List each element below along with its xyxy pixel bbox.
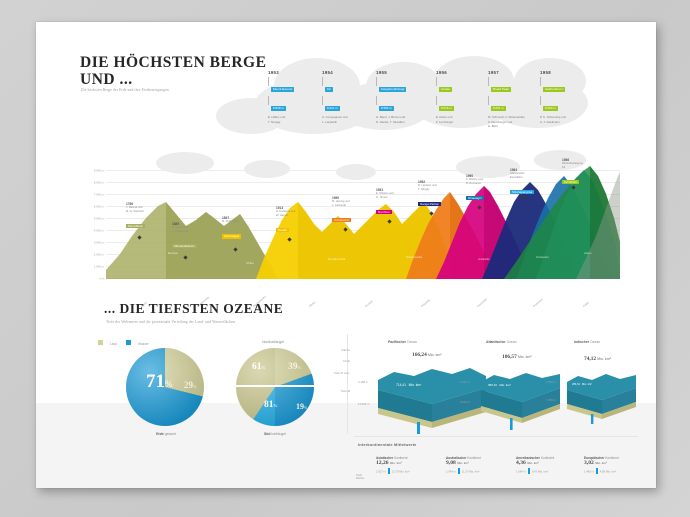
pie-caption-earth: Erde gesamt (136, 432, 196, 436)
tag-row: Broad Peak (488, 77, 540, 95)
climber-names: K. Bishop und B. Romanes (466, 178, 510, 186)
ocean-volume-atlantic: 350,91 Mio. km³ (488, 378, 511, 388)
ocean-volume-indian: 284,61 Mio. km³ (572, 378, 592, 387)
axis-label-tiefe-avg: Tiefe Ø (316, 389, 350, 393)
x-axis-label: Ozeanien (532, 297, 544, 308)
tag-row: 8.586 m (376, 96, 428, 114)
peak-tag[interactable]: Mount Everest (271, 87, 294, 92)
infographic-poster: DIE HÖCHSTEN BERGE UND ... Die höchsten … (36, 22, 656, 488)
peak-tag[interactable]: Denali (276, 228, 289, 233)
legend: Land Wasser (98, 332, 149, 350)
peak-tag[interactable]: K2 (325, 87, 333, 92)
peak-tag[interactable]: Kilimandscharo (172, 244, 197, 249)
y-axis-label: 1.000 m (80, 265, 104, 269)
stat-bar (528, 468, 530, 474)
legend-item-water[interactable]: Wasser (126, 332, 149, 350)
band-inline-label: Afrika (246, 261, 254, 265)
ocean-volume-pacific: 714,41 Mio. km³ (396, 378, 421, 389)
climber-names: J. Balmat und M.-G. Paccard (126, 206, 170, 214)
tag-row: Mount Everest (268, 77, 320, 95)
peak-tag[interactable]: Kangchendzönga (379, 87, 406, 92)
climber-names: E. Shipton und H. Tilman (376, 192, 420, 200)
stat-column-europe[interactable]: Europäischer Kontinent 3,02 Mio. km² 1.4… (584, 456, 648, 474)
ocean-depth-avg-atlantic: 3.332 m (460, 380, 470, 384)
tag-row: 8.051 m (488, 96, 540, 114)
climber-names: M. Herzog und L. Lachenal (332, 200, 376, 208)
y-axis-label: 4.000 m (80, 229, 104, 233)
peak-callout[interactable]: 1964 Chinesische Expedition Shishapangma (510, 168, 554, 198)
axis-label-tiefe-max: Tiefe Ø max. (316, 371, 350, 375)
peak-callout[interactable]: 1897 M. Zurbriggen Aconcagua (222, 216, 266, 242)
continent-subvalue: 1.684 m 9,43 Mio. km² (516, 468, 580, 474)
pie-value-water: 71% (146, 371, 173, 393)
legend-swatch-water (126, 340, 131, 345)
peak-callout[interactable]: 1952 R. Lambert und T. Norgay Nanga Parb… (418, 180, 462, 210)
ocean-area-pacific: 166,24 Mio. km² (412, 352, 442, 358)
continent-subvalue: 1.480 m 4,58 Mio. km² (584, 468, 648, 474)
ocean-area-indian: 74,12 Mio. km² (584, 356, 611, 362)
climber-names: Winterbesteigung K2 (562, 162, 606, 170)
pie-value-north-land: 39% (288, 362, 301, 372)
band-inline-label: Antarktis (478, 257, 490, 261)
elevation-tag[interactable]: 8.586 m (379, 106, 394, 111)
ocean-depth-max-atlantic: 9.219 m (460, 400, 470, 404)
band-inline-label: Nordamerika (328, 257, 346, 261)
first-ascent-entry[interactable]: 1953 Mount Everest 8.848 m E. Hillary un… (268, 70, 320, 124)
continent-value: 3,02 Mio. km² (584, 460, 648, 466)
tag-row: K2 (322, 77, 374, 95)
year-label: 1958 (540, 70, 592, 75)
ocean-name-pacific: Pazifischer Ozean (388, 340, 417, 344)
ocean-axis-labels: Fläche Inhalt Tiefe Ø max. Tiefe Ø (316, 348, 350, 400)
pie-value-land: 29% (184, 380, 197, 390)
elevation-tag[interactable]: 8.516 m (439, 106, 454, 111)
peak-callout[interactable]: 1951 E. Shipton und H. Tilman Nun Kun (376, 188, 420, 218)
elevation-tag[interactable]: 8.848 m (271, 106, 286, 111)
climber-names: H. Karstens und W. Harper (276, 210, 320, 218)
y-axis-label: 2.000 m (80, 253, 104, 257)
stats-title: Interkontinentale Mittelwerte (358, 442, 656, 447)
stats-row-label: Tiefe Fläche (356, 474, 364, 480)
x-axis-label: Australien (476, 297, 488, 308)
x-axis-label: Arktis (582, 301, 590, 309)
tag-row: Kangchendzönga (376, 77, 428, 95)
y-axis-label: 9.000 m (80, 169, 104, 173)
pie-value-north-water: 61% (252, 362, 265, 372)
tag-row: 8.611 m (322, 96, 374, 114)
axis-label-inhalt: Inhalt (316, 359, 350, 363)
peak-tag[interactable]: Lhotse (439, 87, 452, 92)
tag-row: Gasherbrum I (540, 77, 592, 95)
climber-names: H. Meyer und L. Purtscheller (172, 226, 216, 234)
ocean-name-indian: Indischer Ozean (574, 340, 600, 344)
first-ascent-entry[interactable]: 1958 Gasherbrum I 8.080 m P. K. Schoenin… (540, 70, 592, 124)
ocean-depth-avg-pacific: 4.188 m (358, 380, 368, 384)
climber-names: P. K. Schoening und A. J. Kaufmann (540, 115, 592, 124)
x-axis-label: Europa (364, 299, 373, 308)
peak-tag[interactable]: Aconcagua (222, 234, 241, 239)
page-subtitle-oceans: Tiefe der Weltmeere und die prozentuale … (106, 320, 306, 324)
continent-subvalue: 2.994 m 11,37 Mio. km² (446, 468, 510, 474)
climber-names: R. Lambert und T. Norgay (418, 184, 462, 192)
ocean-depth-max-indian: 7.455 m (546, 398, 556, 402)
y-axis-label: 8.000 m (80, 181, 104, 185)
mountain-area-chart: 9.000 m 8.000 m 7.000 m 6.000 m 5.000 m … (80, 162, 620, 302)
climber-names: E. Hillary und T. Norgay (268, 115, 320, 124)
elevation-tag[interactable]: 8.611 m (325, 106, 340, 111)
stat-column-asia[interactable]: Asiatischer Kontinent 12,26 Mio. km² 2.0… (376, 456, 440, 474)
stat-bar (596, 468, 598, 474)
peak-tag[interactable]: Annapurna (332, 218, 351, 223)
year-label: 1957 (488, 70, 540, 75)
ocean-block-pacific[interactable] (374, 360, 490, 436)
peak-callout[interactable]: 1889 H. Meyer und L. Purtscheller Kilima… (172, 222, 216, 252)
year-label: 1955 (376, 70, 428, 75)
ocean-block-indian[interactable] (564, 366, 640, 432)
legend-label: Wasser (138, 342, 149, 346)
peak-tag[interactable]: Dhaulagiri (466, 196, 484, 201)
peak-tag[interactable]: K2 Winter (562, 180, 579, 185)
continent-value: 4,36 Mio. km² (516, 460, 580, 466)
y-axis-label: 3.000 m (80, 241, 104, 245)
year-label: 1954 (322, 70, 374, 75)
continent-value: 12,26 Mio. km² (376, 460, 440, 466)
peak-callout[interactable]: 1950 M. Herzog und L. Lachenal Annapurna (332, 196, 376, 226)
stat-column-america[interactable]: Amerikanischer Kontinent 4,36 Mio. km² 1… (516, 456, 580, 474)
x-axis-label: Afrika (308, 300, 316, 308)
pie-caption-hemispheres: Süd halbkugel (242, 432, 308, 436)
y-axis-label: 5.000 m (80, 217, 104, 221)
climber-names: G. Band, J. Brown und N. Hardie, T. Stre… (376, 115, 428, 124)
tag-row: 8.848 m (268, 96, 320, 114)
pie-value-south-land: 19% (296, 402, 307, 411)
depth-probe (591, 414, 593, 424)
legend-label: Land (110, 342, 117, 346)
peak-callout[interactable]: 1960 K. Bishop und B. Romanes Dhaulagiri (466, 174, 510, 204)
peak-tag[interactable]: Shishapangma (510, 190, 534, 195)
climber-names: M. Zurbriggen (222, 220, 266, 224)
ocean-area-atlantic: 106,57 Mio. km² (502, 354, 532, 360)
continent-subvalue: 2.027 m 13,70 Mio. km² (376, 468, 440, 474)
tag-row: 8.516 m (436, 96, 488, 114)
ocean-depth-max-pacific: 11.034 m (358, 402, 369, 406)
pie-split-divider (236, 385, 314, 387)
legend-item-land[interactable]: Land (98, 332, 117, 350)
first-ascent-entry[interactable]: 1956 Lhotse 8.516 m E. Reiss und F. Luch… (436, 70, 488, 124)
tag-row: 8.080 m (540, 96, 592, 114)
peak-callout[interactable]: 1986 Winterbesteigung K2 K2 Winter (562, 158, 606, 188)
band-inline-label: Südamerika (406, 255, 422, 259)
first-ascent-entry[interactable]: 1955 Kangchendzönga 8.586 m G. Band, J. … (376, 70, 428, 124)
elevation-tag[interactable]: 8.080 m (543, 106, 558, 111)
y-axis-label: 7.000 m (80, 193, 104, 197)
pie-value-south-water: 81% (264, 400, 277, 410)
stat-bar (388, 468, 390, 474)
ocean-depth-avg-indian: 3.897 m (546, 380, 556, 384)
year-label: 1953 (268, 70, 320, 75)
pie-title-north: Nordhalbkugel (238, 340, 308, 344)
band-inline-label: Ozeanien (536, 255, 549, 259)
stat-bar (458, 468, 460, 474)
band-inline-label: Asien (584, 251, 592, 255)
elevation-tag[interactable]: 8.051 m (491, 106, 506, 111)
climber-names: Chinesische Expedition (510, 172, 554, 180)
climber-names: M. Schmuck, F. Wintersteller, K. Diember… (488, 115, 540, 128)
first-ascent-entry[interactable]: 1954 K2 8.611 m A. Compagnoni und L. Lac… (322, 70, 374, 124)
climber-names: A. Compagnoni und L. Lacedelli (322, 115, 374, 124)
axis-label-flaeche: Fläche (316, 348, 350, 352)
peak-tag[interactable]: Broad Peak (491, 87, 511, 92)
first-ascent-entry[interactable]: 1957 Broad Peak 8.051 m M. Schmuck, F. W… (488, 70, 540, 128)
x-axis-label: Antarktis (420, 298, 431, 308)
tag-row: Lhotse (436, 77, 488, 95)
climber-names: E. Reiss und F. Luchsinger (436, 115, 488, 124)
peak-callout[interactable]: 1786 J. Balmat und M.-G. Paccard Mont Bl… (126, 202, 170, 232)
peak-tag[interactable]: Nun Kun (376, 210, 392, 215)
horizontal-divider (354, 436, 638, 437)
peak-callout[interactable]: 1913 H. Karstens und W. Harper Denali (276, 206, 320, 236)
year-label: 1956 (436, 70, 488, 75)
y-axis-label: 0 m (80, 277, 104, 281)
stat-column-australia[interactable]: Australischer Kontinent 9,08 Mio. km² 2.… (446, 456, 510, 474)
peak-tag[interactable]: Mont Blanc (126, 224, 145, 229)
y-axis-label: 6.000 m (80, 205, 104, 209)
stats-panel: Interkontinentale Mittelwerte (358, 442, 656, 447)
page-title-oceans: ... DIE TIEFSTEN OZEANE (104, 302, 283, 317)
peak-tag[interactable]: Gasherbrum I (543, 87, 565, 92)
continent-value: 9,08 Mio. km² (446, 460, 510, 466)
legend-swatch-land (98, 340, 103, 345)
depth-probe (510, 418, 513, 430)
ocean-name-atlantic: Atlantischer Ozean (486, 340, 517, 344)
peak-tag[interactable]: Nanga Parbat (418, 202, 441, 207)
depth-probe (417, 422, 420, 434)
